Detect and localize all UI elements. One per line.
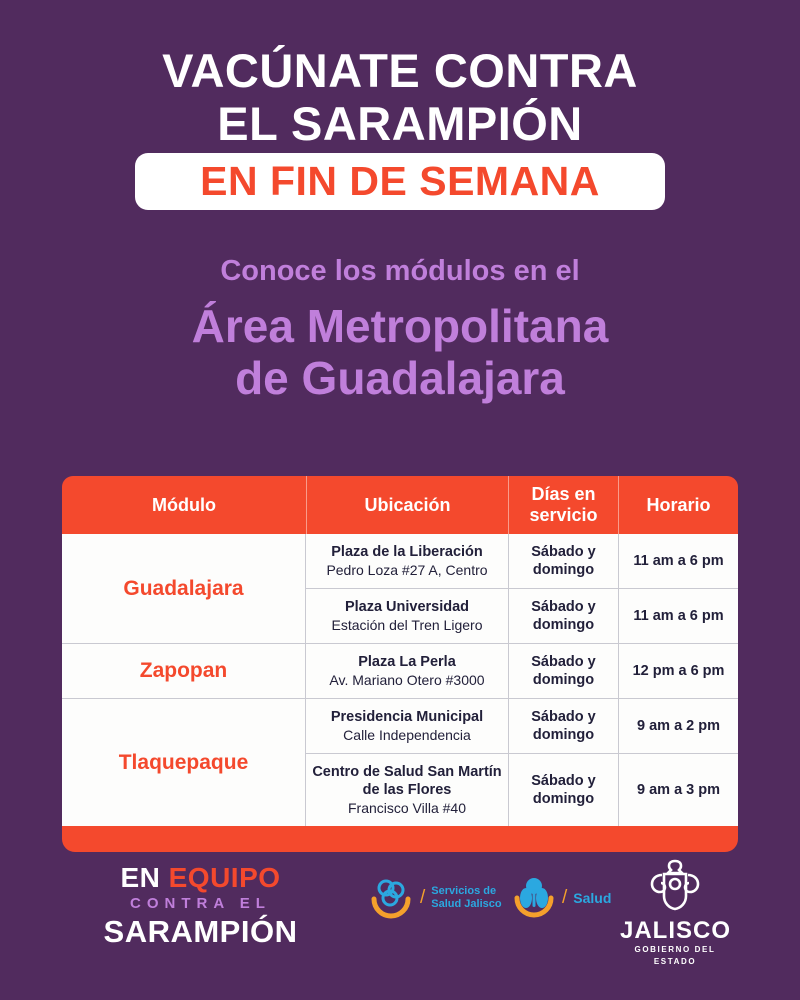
modules-table: Módulo Ubicación Días en servicio Horari… xyxy=(62,476,738,852)
group-rows: Plaza de la Liberación Pedro Loza #27 A,… xyxy=(306,534,738,643)
group-label-modulo: Zapopan xyxy=(62,644,306,698)
headline-line-1: VACÚNATE CONTRA xyxy=(0,44,800,97)
salud-icon xyxy=(512,877,556,919)
cell-ubicacion: Plaza Universidad Estación del Tren Lige… xyxy=(306,589,508,643)
table-group: Guadalajara Plaza de la Liberación Pedro… xyxy=(62,534,738,643)
location-address: Estación del Tren Ligero xyxy=(332,616,483,634)
logo-jalisco-gobierno: JALISCO GOBIERNO DEL ESTADO xyxy=(620,857,730,968)
weekend-banner: EN FIN DE SEMANA xyxy=(135,153,665,210)
cell-horario: 11 am a 6 pm xyxy=(618,589,738,643)
subtitle-large: Área Metropolitana de Guadalajara xyxy=(0,300,800,404)
jalisco-title: JALISCO xyxy=(620,918,730,944)
ssj-text-line-2: Salud Jalisco xyxy=(431,898,501,911)
table-row: Centro de Salud San Martín de las Flores… xyxy=(306,753,738,826)
cell-dias: Sábado y domingo xyxy=(508,534,618,588)
divider-slash: / xyxy=(420,887,425,909)
jalisco-subtitle: GOBIERNO DEL ESTADO xyxy=(620,944,730,968)
table-row: Plaza Universidad Estación del Tren Lige… xyxy=(306,588,738,643)
column-header-dias: Días en servicio xyxy=(508,476,618,534)
group-label-modulo: Guadalajara xyxy=(62,534,306,643)
location-place: Presidencia Municipal xyxy=(331,708,483,726)
group-rows: Plaza La Perla Av. Mariano Otero #3000 S… xyxy=(306,644,738,698)
location-address: Av. Mariano Otero #3000 xyxy=(329,671,484,689)
location-place: Plaza Universidad xyxy=(345,598,469,616)
campaign-contra-el: CONTRA EL xyxy=(78,893,323,915)
campaign-line-1: EN EQUIPO xyxy=(78,863,323,893)
subtitle-large-line-2: de Guadalajara xyxy=(0,352,800,404)
location-address: Francisco Villa #40 xyxy=(348,799,466,817)
cell-horario: 12 pm a 6 pm xyxy=(618,644,738,698)
location-place: Plaza de la Liberación xyxy=(331,543,483,561)
campaign-en: EN xyxy=(120,862,160,893)
servicios-salud-jalisco-icon xyxy=(368,877,414,919)
location-address: Pedro Loza #27 A, Centro xyxy=(326,561,487,579)
divider-slash: / xyxy=(562,887,567,909)
location-place: Plaza La Perla xyxy=(358,653,456,671)
column-header-ubicacion: Ubicación xyxy=(306,476,508,534)
cell-ubicacion: Plaza La Perla Av. Mariano Otero #3000 xyxy=(306,644,508,698)
subtitle-small: Conoce los módulos en el xyxy=(0,254,800,288)
table-row: Plaza La Perla Av. Mariano Otero #3000 S… xyxy=(306,644,738,698)
jalisco-coat-of-arms-icon xyxy=(642,857,708,913)
campaign-sarampion: SARAMPIÓN xyxy=(78,915,323,949)
cell-horario: 9 am a 3 pm xyxy=(618,754,738,826)
cell-dias: Sábado y domingo xyxy=(508,699,618,753)
column-header-horario: Horario xyxy=(618,476,738,534)
logo-text-block: Servicios de Salud Jalisco xyxy=(431,885,501,911)
cell-ubicacion: Presidencia Municipal Calle Independenci… xyxy=(306,699,508,753)
cell-dias: Sábado y domingo xyxy=(508,754,618,826)
table-row: Presidencia Municipal Calle Independenci… xyxy=(306,699,738,753)
column-header-modulo: Módulo xyxy=(62,476,306,534)
ssj-text-line-1: Servicios de xyxy=(431,885,501,898)
headline-line-2: EL SARAMPIÓN xyxy=(0,97,800,150)
poster: VACÚNATE CONTRA EL SARAMPIÓN EN FIN DE S… xyxy=(0,0,800,1000)
group-rows: Presidencia Municipal Calle Independenci… xyxy=(306,699,738,826)
weekend-banner-label: EN FIN DE SEMANA xyxy=(200,161,600,202)
group-label-modulo: Tlaquepaque xyxy=(62,699,306,826)
page-title: VACÚNATE CONTRA EL SARAMPIÓN xyxy=(0,44,800,150)
cell-dias: Sábado y domingo xyxy=(508,589,618,643)
footer: EN EQUIPO CONTRA EL SARAMPIÓN / Servicio… xyxy=(0,855,800,975)
table-body: Guadalajara Plaza de la Liberación Pedro… xyxy=(62,534,738,826)
table-header-row: Módulo Ubicación Días en servicio Horari… xyxy=(62,476,738,534)
logo-servicios-salud-jalisco: / Servicios de Salud Jalisco xyxy=(368,877,502,919)
table-group: Tlaquepaque Presidencia Municipal Calle … xyxy=(62,698,738,826)
cell-horario: 11 am a 6 pm xyxy=(618,534,738,588)
campaign-equipo: EQUIPO xyxy=(169,862,281,893)
campaign-lockup: EN EQUIPO CONTRA EL SARAMPIÓN xyxy=(78,863,323,949)
cell-horario: 9 am a 2 pm xyxy=(618,699,738,753)
table-row: Plaza de la Liberación Pedro Loza #27 A,… xyxy=(306,534,738,588)
table-footer-bar xyxy=(62,826,738,852)
logo-salud: / Salud xyxy=(512,877,611,919)
table-group: Zapopan Plaza La Perla Av. Mariano Otero… xyxy=(62,643,738,698)
cell-ubicacion: Plaza de la Liberación Pedro Loza #27 A,… xyxy=(306,534,508,588)
subtitle-large-line-1: Área Metropolitana xyxy=(0,300,800,352)
location-address: Calle Independencia xyxy=(343,726,471,744)
salud-text: Salud xyxy=(573,892,611,905)
cell-ubicacion: Centro de Salud San Martín de las Flores… xyxy=(306,754,508,826)
location-place: Centro de Salud San Martín de las Flores xyxy=(312,763,502,799)
cell-dias: Sábado y domingo xyxy=(508,644,618,698)
